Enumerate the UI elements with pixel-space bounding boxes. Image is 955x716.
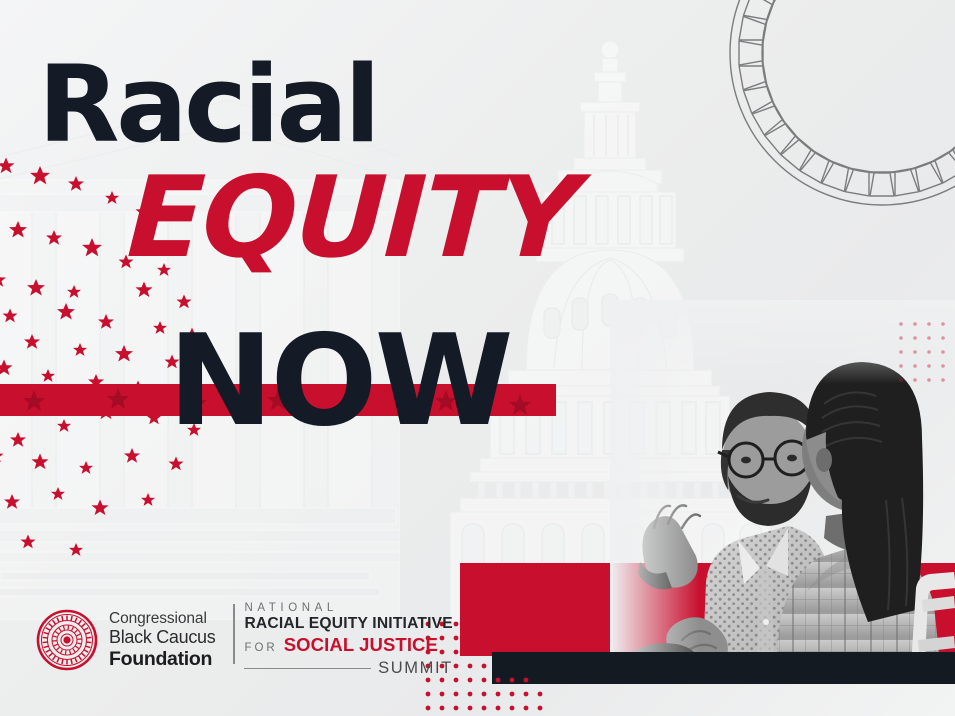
poster-canvas: Racial EQUITY NOW xyxy=(0,0,955,716)
logo-lockup: Congressional Black Caucus Foundation NA… xyxy=(36,602,453,678)
nrei-row-social-justice: FOR SOCIAL JUSTICE xyxy=(244,634,452,656)
cbc-line-black-caucus: Black Caucus xyxy=(109,627,215,648)
nrei-wordmark: NATIONAL RACIAL EQUITY INITIATIVE FOR SO… xyxy=(244,602,452,678)
nrei-underline xyxy=(244,668,371,670)
nrei-summit-logo: NATIONAL RACIAL EQUITY INITIATIVE FOR SO… xyxy=(233,602,452,678)
photo-navy-block xyxy=(492,652,955,684)
nrei-line-racial-equity-initiative: RACIAL EQUITY INITIATIVE xyxy=(244,615,452,633)
congressional-black-caucus-seal-icon xyxy=(36,609,98,671)
two-people-in-conversation-photo xyxy=(610,300,955,682)
cbc-line-congressional: Congressional xyxy=(109,610,215,628)
nrei-line-national: NATIONAL xyxy=(244,602,452,614)
nrei-line-social-justice: SOCIAL JUSTICE xyxy=(284,634,438,656)
nrei-line-for: FOR xyxy=(244,642,277,654)
nrei-divider xyxy=(233,604,235,664)
nrei-line-summit: SUMMIT xyxy=(378,659,453,678)
cbc-wordmark: Congressional Black Caucus Foundation xyxy=(109,610,215,670)
nrei-row-summit: SUMMIT xyxy=(244,659,452,678)
cbc-line-foundation: Foundation xyxy=(109,648,215,670)
congressional-black-caucus-foundation-logo: Congressional Black Caucus Foundation xyxy=(36,609,215,671)
